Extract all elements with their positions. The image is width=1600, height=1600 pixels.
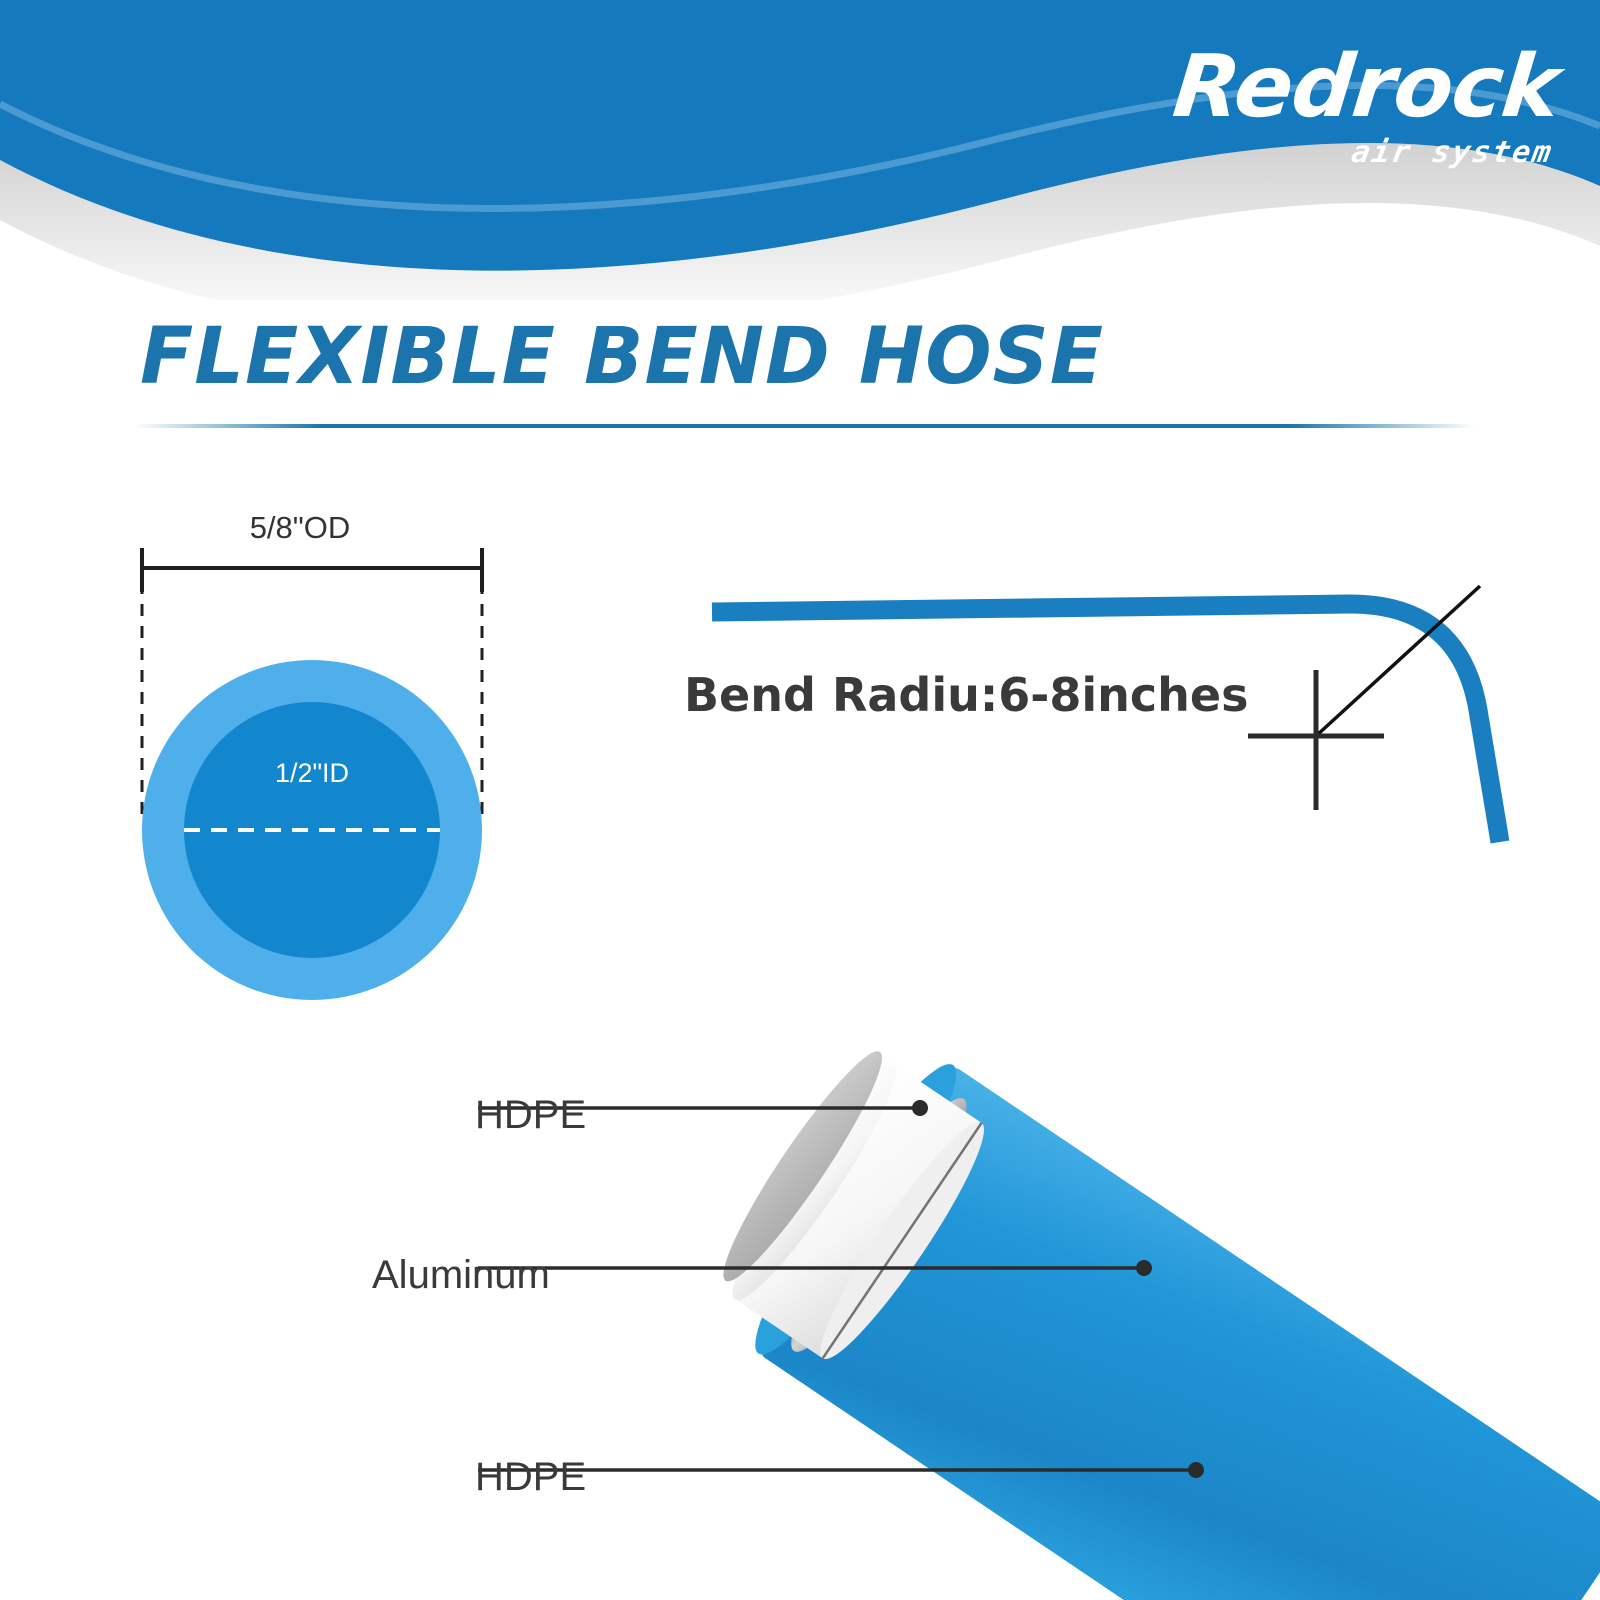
title-underline-rule [135, 424, 1475, 428]
infographic-page: Redrock air system FLEXIBLE BEND HOSE 5/… [0, 0, 1600, 1600]
bend-radius-label: Bend Radiu:6-8inches [684, 668, 1248, 722]
page-title: FLEXIBLE BEND HOSE [140, 312, 1104, 402]
bend-radius-diagram: Bend Radiu:6-8inches [660, 560, 1600, 880]
leader-dot-hdpe-bottom [1188, 1462, 1204, 1478]
callout-label-hdpe-outer-cap: HDPE [475, 1093, 586, 1138]
wave-shape [0, 0, 1600, 271]
inner-diameter-label: 1/2"ID [142, 758, 482, 789]
leader-dot-hdpe-top [912, 1100, 928, 1116]
hose-end-assembly: HDPE Aluminum HDPE [330, 930, 1600, 1600]
callout-label-hdpe-jacket: HDPE [475, 1455, 586, 1500]
header-band: Redrock air system [0, 0, 1600, 300]
leader-dot-aluminum [1136, 1260, 1152, 1276]
callout-label-aluminum: Aluminum [372, 1253, 550, 1298]
bend-tube-path [712, 604, 1500, 842]
header-wave-graphic [0, 0, 1600, 300]
outer-diameter-label: 5/8"OD [100, 510, 500, 546]
